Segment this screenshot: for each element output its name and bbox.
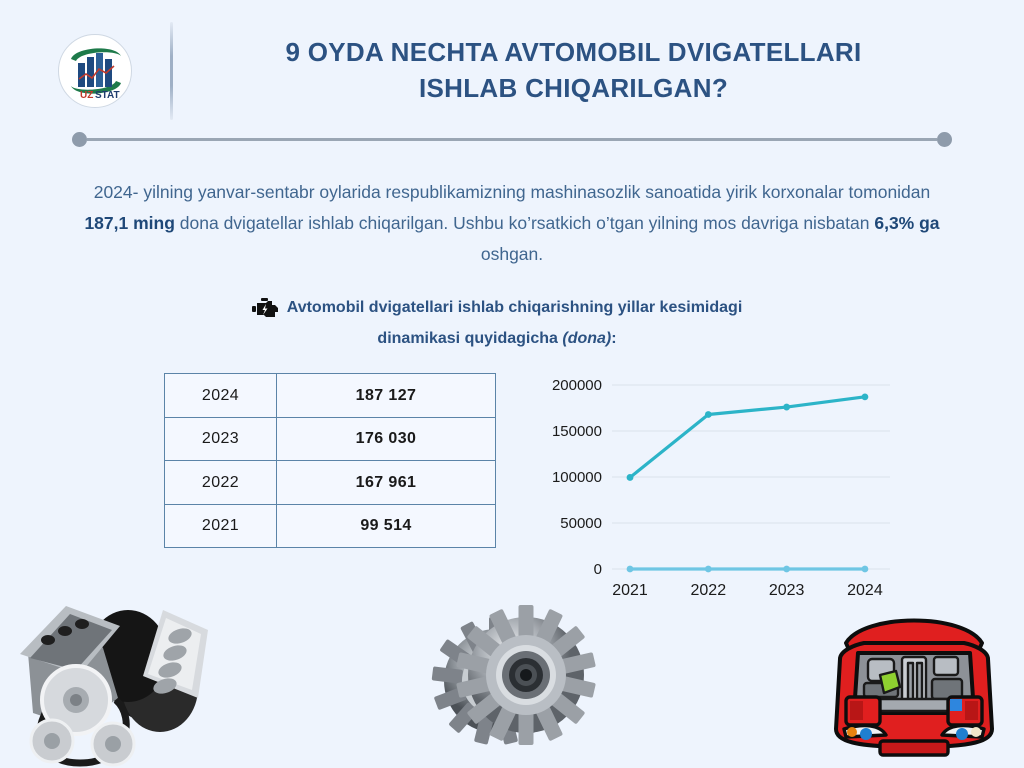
subtitle-line-1: Avtomobil dvigatellari ishlab chiqarishn…	[120, 296, 874, 327]
chart-canvas: 050000100000150000200000 202120222023202…	[538, 373, 898, 605]
table-row: 2024187 127	[165, 374, 496, 418]
gear-tooth	[460, 621, 486, 654]
gear-tooth	[520, 639, 553, 668]
chart-gridlines	[612, 385, 890, 569]
red-car-open-hood-illustration	[824, 601, 1004, 766]
table-cell-year: 2023	[165, 417, 277, 461]
gear-tooth	[525, 687, 558, 711]
chart-data-point	[627, 474, 634, 481]
intro-text-part2: dona dvigatellar ishlab chiqarilgan. Ush…	[175, 213, 874, 233]
chart-y-axis-labels: 050000100000150000200000	[552, 377, 602, 578]
table-row: 2022167 961	[165, 461, 496, 505]
gear-tooth	[432, 666, 463, 684]
gear-tooth	[434, 687, 467, 711]
chart-data-point	[783, 404, 790, 411]
table-cell-value: 187 127	[277, 374, 496, 418]
chart-series-group	[627, 394, 869, 573]
gear-tooth	[439, 639, 472, 668]
y-axis-tick: 100000	[552, 469, 602, 486]
table-cell-year: 2021	[165, 504, 277, 548]
table-cell-year: 2024	[165, 374, 277, 418]
y-axis-tick: 0	[594, 561, 602, 578]
chart-subtitle: Avtomobil dvigatellari ishlab chiqarishn…	[0, 296, 1024, 351]
subtitle-unit: (dona)	[562, 330, 611, 347]
production-table: 2024187 1272023176 0302022167 961202199 …	[164, 373, 496, 548]
gear-front	[456, 605, 596, 745]
page-title: 9 OYDA NECHTA AVTOMOBIL DVIGATELLARI ISH…	[173, 35, 1024, 107]
table-row: 202199 514	[165, 504, 496, 548]
divider-dot-right	[937, 132, 952, 147]
intro-text-part3: oshgan.	[481, 244, 543, 264]
uzstat-logo: UZ STAT	[58, 34, 132, 108]
divider-line	[87, 138, 937, 141]
gear-tooth	[489, 617, 503, 647]
x-axis-tick: 2023	[769, 582, 805, 599]
gear-tooth	[551, 693, 585, 725]
data-table-wrapper: 2024187 1272023176 0302022167 961202199 …	[164, 373, 496, 603]
header: UZ STAT 9 OYDA NECHTA AVTOMOBIL DVIGATEL…	[0, 0, 1024, 110]
gear-tooth	[561, 676, 596, 698]
x-axis-tick: 2021	[612, 582, 648, 599]
gear-tooth	[497, 712, 518, 744]
gear-tooth	[536, 706, 563, 741]
chart-data-point	[705, 411, 712, 418]
intro-highlight-volume: 187,1 ming	[84, 213, 174, 233]
gear-tooth	[456, 676, 491, 698]
divider-dot-left	[72, 132, 87, 147]
chart-x-axis-labels: 2021202220232024	[612, 582, 883, 599]
intro-text-part1: 2024- yilning yanvar-sentabr oylarida re…	[94, 182, 931, 202]
gear-tooth	[519, 605, 534, 637]
gear-back	[432, 617, 561, 745]
intro-paragraph: 2024- yilning yanvar-sentabr oylarida re…	[72, 177, 952, 270]
gear-tooth	[467, 693, 501, 725]
gear-tooth	[513, 702, 543, 734]
table-cell-value: 176 030	[277, 417, 496, 461]
gear-tooth	[519, 713, 534, 745]
gear-tooth	[489, 609, 516, 644]
subtitle-text-2: dinamikasi quyidagicha	[377, 330, 562, 347]
gear-tooth	[561, 652, 596, 674]
intro-highlight-growth: 6,3% ga	[874, 213, 939, 233]
gear-tooth	[529, 666, 560, 684]
chart-data-point	[783, 566, 790, 573]
v-engine-illustration	[8, 578, 223, 768]
engine-icon	[252, 297, 280, 327]
gear-tooth	[506, 621, 532, 654]
chart-data-point	[705, 566, 712, 573]
logo-text-stat: STAT	[95, 90, 120, 101]
title-line-2: ISHLAB CHIQARILGAN?	[173, 71, 974, 107]
gear-tooth	[456, 652, 491, 674]
y-axis-tick: 200000	[552, 377, 602, 394]
logo-text-uz: UZ	[80, 90, 93, 101]
line-chart: 050000100000150000200000 202120222023202…	[538, 373, 898, 603]
subtitle-line-2: dinamikasi quyidagicha (dona):	[120, 327, 874, 351]
title-line-1: 9 OYDA NECHTA AVTOMOBIL DVIGATELLARI	[173, 35, 974, 71]
chart-data-point	[627, 566, 634, 573]
gear-tooth	[448, 702, 478, 734]
x-axis-tick: 2022	[691, 582, 727, 599]
chart-data-point	[862, 394, 869, 401]
gear-tooth	[474, 712, 495, 744]
x-axis-tick: 2024	[847, 582, 883, 599]
y-axis-tick: 50000	[560, 515, 602, 532]
gear-tooth	[551, 625, 585, 657]
subtitle-colon: :	[611, 330, 616, 347]
gear-tooth	[467, 625, 501, 657]
table-cell-value: 99 514	[277, 504, 496, 548]
table-row: 2023176 030	[165, 417, 496, 461]
table-cell-value: 167 961	[277, 461, 496, 505]
content-row: 2024187 1272023176 0302022167 961202199 …	[0, 373, 1024, 603]
section-divider	[0, 132, 1024, 147]
subtitle-text-1: Avtomobil dvigatellari ishlab chiqarishn…	[287, 299, 743, 316]
table-cell-year: 2022	[165, 461, 277, 505]
chart-data-point	[862, 566, 869, 573]
chart-line	[630, 397, 865, 478]
gear-tooth	[536, 609, 563, 644]
y-axis-tick: 150000	[552, 423, 602, 440]
gear-tooth	[489, 706, 516, 741]
gears-illustration	[428, 603, 608, 768]
